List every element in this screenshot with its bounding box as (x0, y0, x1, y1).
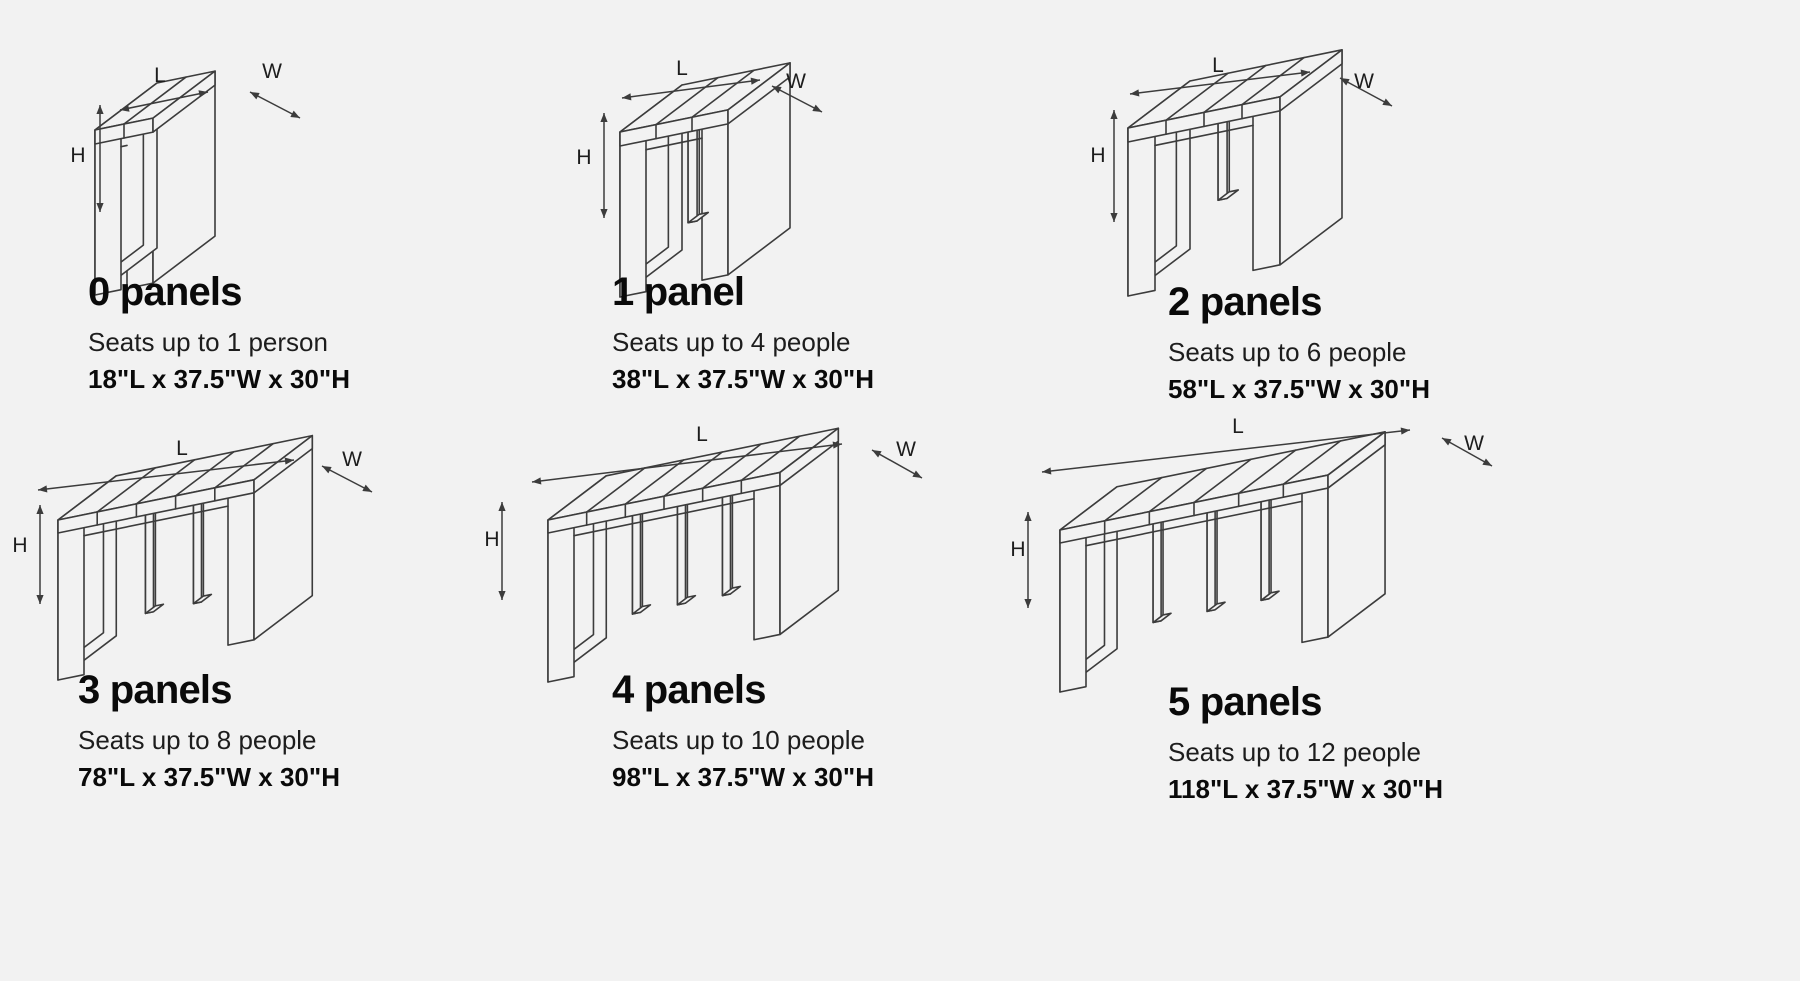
panel-count-title: 2 panels (1168, 282, 1430, 322)
table-illustration: LWH (0, 0, 1800, 981)
table-illustration: LWH (0, 0, 1800, 981)
panel-count-title: 5 panels (1168, 682, 1443, 722)
table-size-card-text: 5 panelsSeats up to 12 people118"L x 37.… (1168, 682, 1443, 805)
table-size-card: LWH1 panelSeats up to 4 people38"L x 37.… (0, 0, 1800, 981)
length-label: L (676, 57, 688, 80)
height-label: H (484, 528, 499, 551)
height-label: H (1010, 538, 1025, 561)
table-illustration: LWH (0, 0, 1800, 981)
seating-capacity: Seats up to 4 people (612, 326, 874, 359)
table-dimensions: 18"L x 37.5"W x 30"H (88, 363, 350, 396)
seating-capacity: Seats up to 6 people (1168, 336, 1430, 369)
height-label: H (70, 144, 85, 167)
panel-count-title: 4 panels (612, 670, 874, 710)
width-label: W (896, 438, 916, 461)
table-dimensions: 78"L x 37.5"W x 30"H (78, 761, 340, 794)
table-size-card-text: 2 panelsSeats up to 6 people58"L x 37.5"… (1168, 282, 1430, 405)
table-dimensions: 118"L x 37.5"W x 30"H (1168, 773, 1443, 806)
height-label: H (12, 534, 27, 557)
table-size-card: LWH2 panelsSeats up to 6 people58"L x 37… (0, 0, 1800, 981)
table-size-card-text: 3 panelsSeats up to 8 people78"L x 37.5"… (78, 670, 340, 793)
length-label: L (696, 423, 708, 446)
panel-count-title: 0 panels (88, 272, 350, 312)
width-label: W (786, 70, 806, 93)
length-label: L (1232, 415, 1244, 438)
panel-count-title: 3 panels (78, 670, 340, 710)
table-dimensions: 58"L x 37.5"W x 30"H (1168, 373, 1430, 406)
length-label: L (1212, 54, 1224, 77)
table-size-card-text: 1 panelSeats up to 4 people38"L x 37.5"W… (612, 272, 874, 395)
table-size-card: LWH0 panelsSeats up to 1 person18"L x 37… (0, 0, 1800, 981)
width-label: W (1354, 70, 1374, 93)
table-dimensions: 98"L x 37.5"W x 30"H (612, 761, 874, 794)
table-size-grid: LWH0 panelsSeats up to 1 person18"L x 37… (0, 0, 1800, 981)
height-label: H (1090, 144, 1105, 167)
table-size-card: LWH3 panelsSeats up to 8 people78"L x 37… (0, 0, 1800, 981)
table-illustration: LWH (0, 0, 1800, 981)
table-size-card: LWH5 panelsSeats up to 12 people118"L x … (0, 0, 1800, 981)
length-label: L (154, 64, 166, 87)
panel-count-title: 1 panel (612, 272, 874, 312)
seating-capacity: Seats up to 12 people (1168, 736, 1443, 769)
seating-capacity: Seats up to 10 people (612, 724, 874, 757)
width-label: W (262, 60, 282, 83)
width-label: W (342, 448, 362, 471)
seating-capacity: Seats up to 1 person (88, 326, 350, 359)
table-size-card: LWH4 panelsSeats up to 10 people98"L x 3… (0, 0, 1800, 981)
table-illustration: LWH (0, 0, 1800, 981)
table-dimensions: 38"L x 37.5"W x 30"H (612, 363, 874, 396)
table-size-card-text: 4 panelsSeats up to 10 people98"L x 37.5… (612, 670, 874, 793)
seating-capacity: Seats up to 8 people (78, 724, 340, 757)
width-label: W (1464, 432, 1484, 455)
table-illustration: LWH (0, 0, 1800, 981)
table-size-card-text: 0 panelsSeats up to 1 person18"L x 37.5"… (88, 272, 350, 395)
length-label: L (176, 437, 188, 460)
height-label: H (576, 146, 591, 169)
